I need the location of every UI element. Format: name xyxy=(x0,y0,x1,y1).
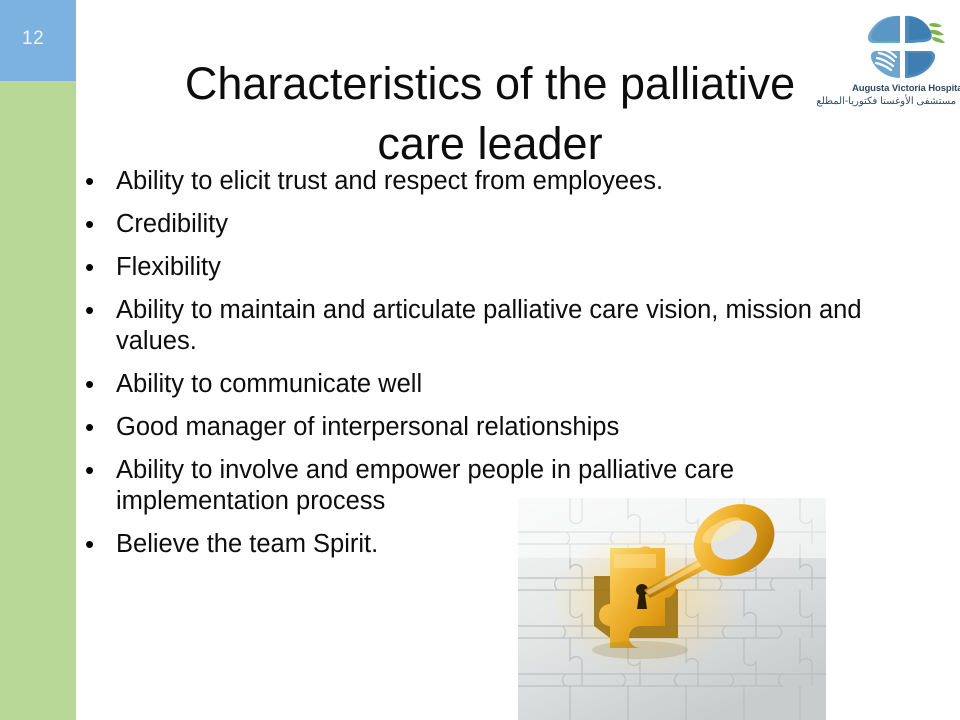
augusta-victoria-hospital-logo-icon xyxy=(860,12,948,82)
list-item: • Flexibility xyxy=(78,252,868,283)
slide-canvas: 12 Characteristics of the palliative car… xyxy=(0,0,960,720)
bullet-point-icon: • xyxy=(78,209,116,240)
bullet-point-icon: • xyxy=(78,529,116,560)
hospital-logo: Augusta Victoria Hospital مستشفى الأوغست… xyxy=(852,12,956,112)
list-item-text: Good manager of interpersonal relationsh… xyxy=(116,412,868,443)
list-item-text: Ability to communicate well xyxy=(116,369,868,400)
list-item-text: Flexibility xyxy=(116,252,868,283)
bullet-point-icon: • xyxy=(78,252,116,283)
list-item-text: Credibility xyxy=(116,209,868,240)
bullet-point-icon: • xyxy=(78,369,116,400)
list-item: • Credibility xyxy=(78,209,868,240)
list-item-text: Ability to elicit trust and respect from… xyxy=(116,166,868,197)
slide-title: Characteristics of the palliative care l… xyxy=(150,54,830,174)
bullet-point-icon: • xyxy=(78,166,116,197)
bullet-point-icon: • xyxy=(78,455,116,486)
logo-name-english: Augusta Victoria Hospital xyxy=(852,83,956,94)
list-item: • Ability to elicit trust and respect fr… xyxy=(78,166,868,197)
list-item: • Ability to communicate well xyxy=(78,369,868,400)
list-item: • Ability to maintain and articulate pal… xyxy=(78,295,868,357)
puzzle-key-photo xyxy=(518,498,826,720)
logo-name-arabic: مستشفى الأوغستا فكتوريا-المطلع xyxy=(852,96,956,107)
slide-number-block: 12 xyxy=(0,0,76,81)
list-item-text: Ability to maintain and articulate palli… xyxy=(116,295,868,357)
bullet-point-icon: • xyxy=(78,295,116,326)
list-item: • Good manager of interpersonal relation… xyxy=(78,412,868,443)
bullet-point-icon: • xyxy=(78,412,116,443)
slide-number: 12 xyxy=(22,29,44,48)
left-accent-bar xyxy=(0,81,76,720)
